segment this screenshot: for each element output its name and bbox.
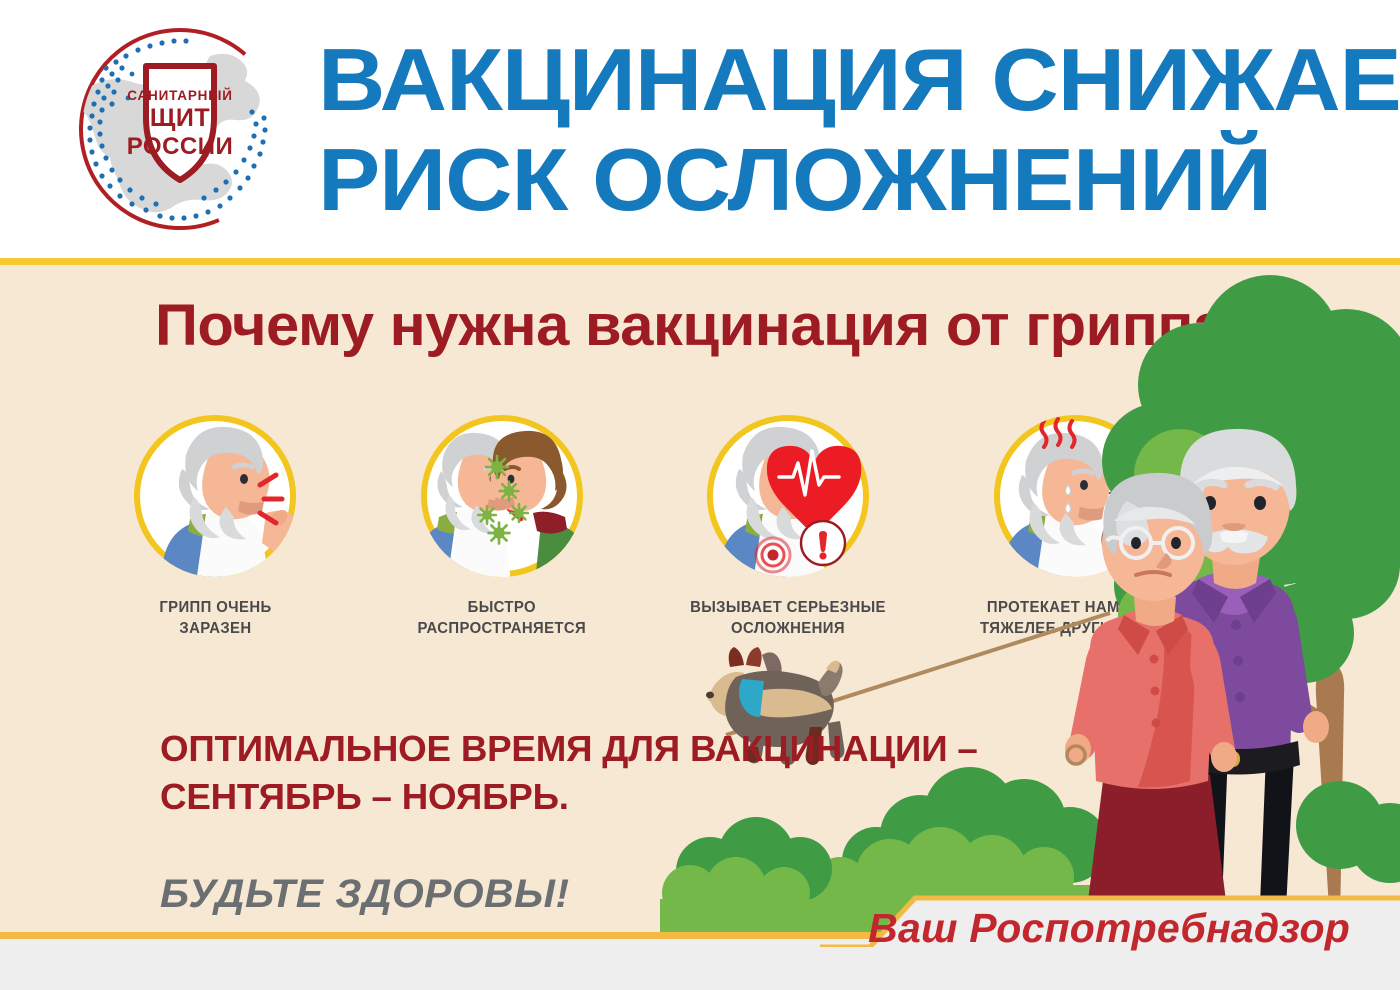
logo-graphic: САНИТАРНЫЙ ЩИТ РОССИИ [60,16,300,242]
reason-caption-2: БЫСТРО РАСПРОСТРАНЯЕТСЯ [417,597,586,640]
title-line-1: ВАКЦИНАЦИЯ СНИЖАЕТ [318,36,1389,124]
caption-line-1: БЫСТРО [417,597,586,618]
reason-caption-1: ГРИПП ОЧЕНЬ ЗАРАЗЕН [159,597,271,640]
caption-line-2: РАСПРОСТРАНЯЕТСЯ [417,618,586,639]
poster-body: Почему нужна вакцинация от гриппа: [0,265,1400,932]
reason-item-1: ГРИПП ОЧЕНЬ ЗАРАЗЕН [80,415,350,640]
title-line-2: РИСК ОСЛОЖНЕНИЙ [318,136,1389,224]
logo-line-2: ЩИТ [150,104,210,132]
poster-root: САНИТАРНЫЙ ЩИТ РОССИИ ВАКЦИНАЦИЯ СНИЖАЕТ… [0,0,1400,990]
logo-line-1: САНИТАРНЫЙ [127,88,232,103]
message-line-1: ОПТИМАЛЬНОЕ ВРЕМЯ ДЛЯ ВАКЦИНАЦИИ – [160,725,976,773]
sanitary-shield-of-russia-logo: САНИТАРНЫЙ ЩИТ РОССИИ [60,16,300,242]
poster-title: ВАКЦИНАЦИЯ СНИЖАЕТ РИСК ОСЛОЖНЕНИЙ [318,22,1328,237]
header-divider [0,258,1400,265]
caption-line-2: ЗАРАЗЕН [159,618,271,639]
poster-header: САНИТАРНЫЙ ЩИТ РОССИИ ВАКЦИНАЦИЯ СНИЖАЕТ… [0,0,1400,258]
coughing-person-graphic [134,415,296,577]
footer-signature: Ваш Роспотребнадзор [868,905,1350,952]
message-line-2: СЕНТЯБРЬ – НОЯБРЬ. [160,773,976,821]
reason-item-2: БЫСТРО РАСПРОСТРАНЯЕТСЯ [367,415,637,640]
virus-transmission-icon [421,415,583,577]
virus-transmission-graphic [421,415,583,577]
logo-line-3: РОССИИ [127,133,234,160]
caption-line-1: ГРИПП ОЧЕНЬ [159,597,271,618]
coughing-person-icon [134,415,296,577]
